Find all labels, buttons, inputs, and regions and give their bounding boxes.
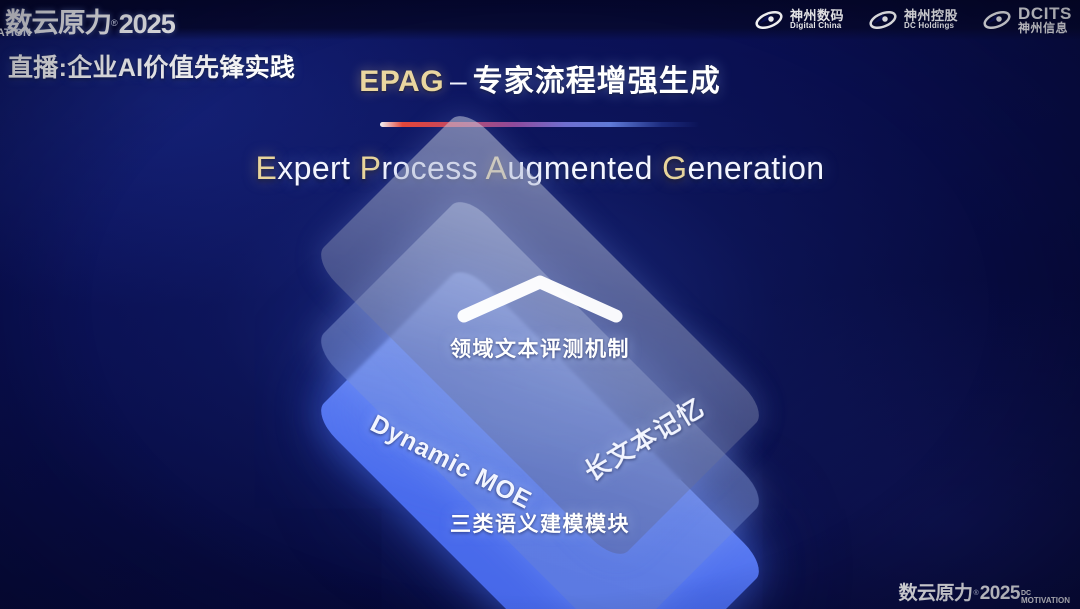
logo-text-dcits: DCITS 神州信息: [1018, 5, 1072, 35]
watermark-year: 2025: [980, 583, 1020, 605]
logo-en-dc-holdings: DC Holdings: [904, 22, 958, 30]
diagram-glow: [310, 300, 770, 520]
footer-watermark: 数云原力 ® 2025 DC MOTIVATION: [899, 578, 1071, 605]
diagram-plate-middle: [312, 193, 768, 609]
chevron-up-icon: [456, 272, 624, 324]
logo-cn-dc-holdings: 神州控股: [904, 9, 958, 23]
diagram-plate-bottom: [312, 263, 768, 609]
brand-name-cn: 数云原力: [5, 1, 111, 40]
subtitle-cap-p: P: [360, 150, 382, 186]
swoosh-icon: [868, 9, 898, 31]
subtitle-rest-augmented: ugmented: [507, 150, 653, 186]
diagram-label-dynamic-moe: Dynamic MOE: [365, 410, 536, 516]
slide-subtitle: Expert Process Augmented Generation: [0, 150, 1080, 187]
logo-dc-holdings: 神州控股 DC Holdings: [868, 9, 958, 31]
diagram-layer-bottom: [325, 276, 755, 609]
watermark-dc-line2: MOTIVATION: [1021, 597, 1070, 604]
logo-dcits: DCITS 神州信息: [982, 5, 1072, 35]
watermark-dc-motivation: DC MOTIVATION: [1021, 591, 1070, 605]
logo-text-digital-china: 神州数码 Digital China: [790, 9, 844, 31]
logo-cn-digital-china: 神州数码: [790, 9, 844, 23]
brand-registered-mark: ®: [111, 18, 118, 28]
title-dash: –: [444, 65, 473, 98]
brand-logo: 数云原力 ® 2025 DC MOTIVATION: [6, 1, 177, 40]
logo-en-digital-china: Digital China: [790, 22, 844, 30]
swoosh-icon: [982, 9, 1012, 31]
logo-cn-dcits: 神州信息: [1018, 22, 1072, 35]
subtitle-rest-process: rocess: [381, 150, 478, 186]
subtitle-rest-expert: xpert: [277, 150, 350, 186]
subtitle-rest-generation: eneration: [687, 150, 824, 186]
watermark-name-cn: 数云原力: [899, 578, 973, 605]
logo-digital-china: 神州数码 Digital China: [754, 9, 844, 31]
subtitle-cap-g: G: [662, 150, 687, 186]
subtitle-cap-e: E: [255, 150, 277, 186]
diagram-layer-middle: [325, 206, 755, 609]
watermark-registered-mark: ®: [974, 590, 979, 597]
title-chinese: 专家流程增强生成: [473, 65, 721, 98]
diagram-label-long-text-memory: 长文本记忆: [577, 388, 711, 488]
slide-canvas: 数云原力 ® 2025 DC MOTIVATION 直播:企业AI价值先锋实践 …: [0, 0, 1080, 609]
swoosh-icon: [754, 9, 784, 31]
diagram-label-top: 领域文本评测机制: [0, 333, 1080, 363]
logo-text-dc-holdings: 神州控股 DC Holdings: [904, 9, 958, 31]
partner-logo-group: 神州数码 Digital China 神州控股 DC Holdings: [754, 5, 1072, 35]
diagram-label-bottom: 三类语义建模模块: [0, 508, 1080, 538]
slide-title: EPAG–专家流程增强生成: [0, 56, 1080, 100]
subtitle-cap-a: A: [486, 150, 508, 186]
title-divider: [380, 122, 700, 127]
title-acronym: EPAG: [359, 65, 444, 98]
logo-en-dcits: DCITS: [1018, 5, 1072, 22]
